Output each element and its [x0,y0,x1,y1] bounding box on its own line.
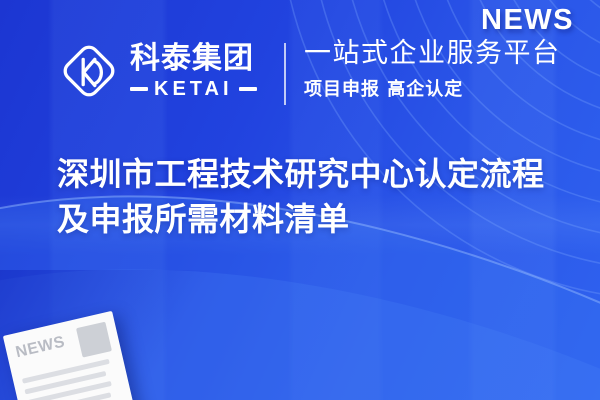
newspaper-thumbnail [76,322,112,358]
brand-name-cn: 科泰集团 [130,44,257,74]
header-divider [284,43,286,105]
tagline-block: 一站式企业服务平台 项目申报 高企认定 [304,38,561,101]
ketai-diamond-monogram-icon [58,40,120,102]
brand-name-en: KETAI [154,79,233,99]
tagline-sub: 项目申报 高企认定 [304,75,561,101]
dash-left-icon [130,87,148,91]
tagline-main: 一站式企业服务平台 [304,38,561,69]
page-title: 深圳市工程技术研究中心认定流程及申报所需材料清单 [57,152,557,243]
news-banner: NEWS 科泰集团 KETAI 一站式企业服务平台 项目申报 高 [0,0,600,400]
brand-logo[interactable]: 科泰集团 KETAI [58,40,257,102]
newspaper-masthead: NEWS [14,332,67,362]
brand-name-en-row: KETAI [130,79,257,99]
dash-right-icon [239,87,257,91]
brand-wordmark: 科泰集团 KETAI [130,44,257,99]
news-badge: NEWS [481,4,574,37]
